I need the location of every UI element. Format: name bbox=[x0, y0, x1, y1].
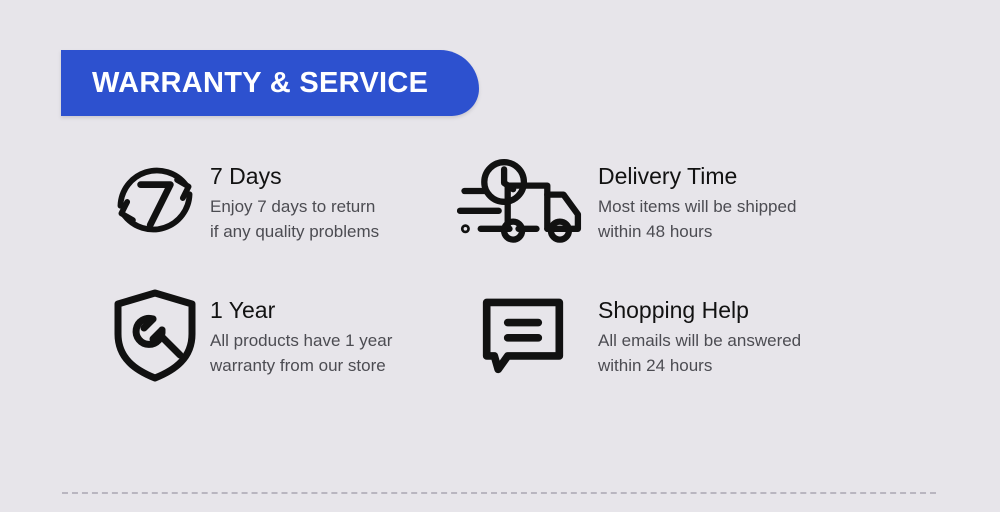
feature-desc-line-1: Enjoy 7 days to return bbox=[210, 195, 379, 220]
feature-title: 1 Year bbox=[210, 297, 392, 323]
feature-row-2: 1 Year All products have 1 year warranty… bbox=[0, 284, 1000, 384]
feature-item-7-days: 7 Days Enjoy 7 days to return if any qua… bbox=[0, 150, 430, 250]
feature-title: Delivery Time bbox=[598, 163, 796, 189]
feature-text-7-days: 7 Days Enjoy 7 days to return if any qua… bbox=[210, 150, 379, 245]
feature-text-1-year: 1 Year All products have 1 year warranty… bbox=[210, 284, 392, 379]
banner-title: WARRANTY & SERVICE bbox=[92, 50, 428, 116]
feature-title: Shopping Help bbox=[598, 297, 801, 323]
return-7-days-icon bbox=[100, 150, 210, 250]
feature-text-shopping-help: Shopping Help All emails will be answere… bbox=[598, 284, 801, 379]
warranty-service-banner: WARRANTY & SERVICE bbox=[61, 50, 479, 116]
feature-desc-line-2: warranty from our store bbox=[210, 354, 392, 379]
chat-bubble-icon bbox=[448, 284, 598, 384]
shield-wrench-icon bbox=[100, 284, 210, 384]
feature-text-delivery-time: Delivery Time Most items will be shipped… bbox=[598, 150, 796, 245]
feature-item-shopping-help: Shopping Help All emails will be answere… bbox=[430, 284, 950, 384]
feature-item-1-year: 1 Year All products have 1 year warranty… bbox=[0, 284, 430, 384]
feature-item-delivery-time: Delivery Time Most items will be shipped… bbox=[430, 150, 950, 250]
feature-desc-line-1: Most items will be shipped bbox=[598, 195, 796, 220]
feature-desc-line-1: All emails will be answered bbox=[598, 329, 801, 354]
bottom-dashed-divider bbox=[62, 492, 936, 494]
feature-desc-line-2: within 48 hours bbox=[598, 220, 796, 245]
feature-desc-line-2: within 24 hours bbox=[598, 354, 801, 379]
feature-title: 7 Days bbox=[210, 163, 379, 189]
delivery-truck-clock-icon bbox=[448, 150, 598, 250]
feature-row-1: 7 Days Enjoy 7 days to return if any qua… bbox=[0, 150, 1000, 250]
feature-grid: 7 Days Enjoy 7 days to return if any qua… bbox=[0, 150, 1000, 384]
feature-desc-line-2: if any quality problems bbox=[210, 220, 379, 245]
feature-desc-line-1: All products have 1 year bbox=[210, 329, 392, 354]
